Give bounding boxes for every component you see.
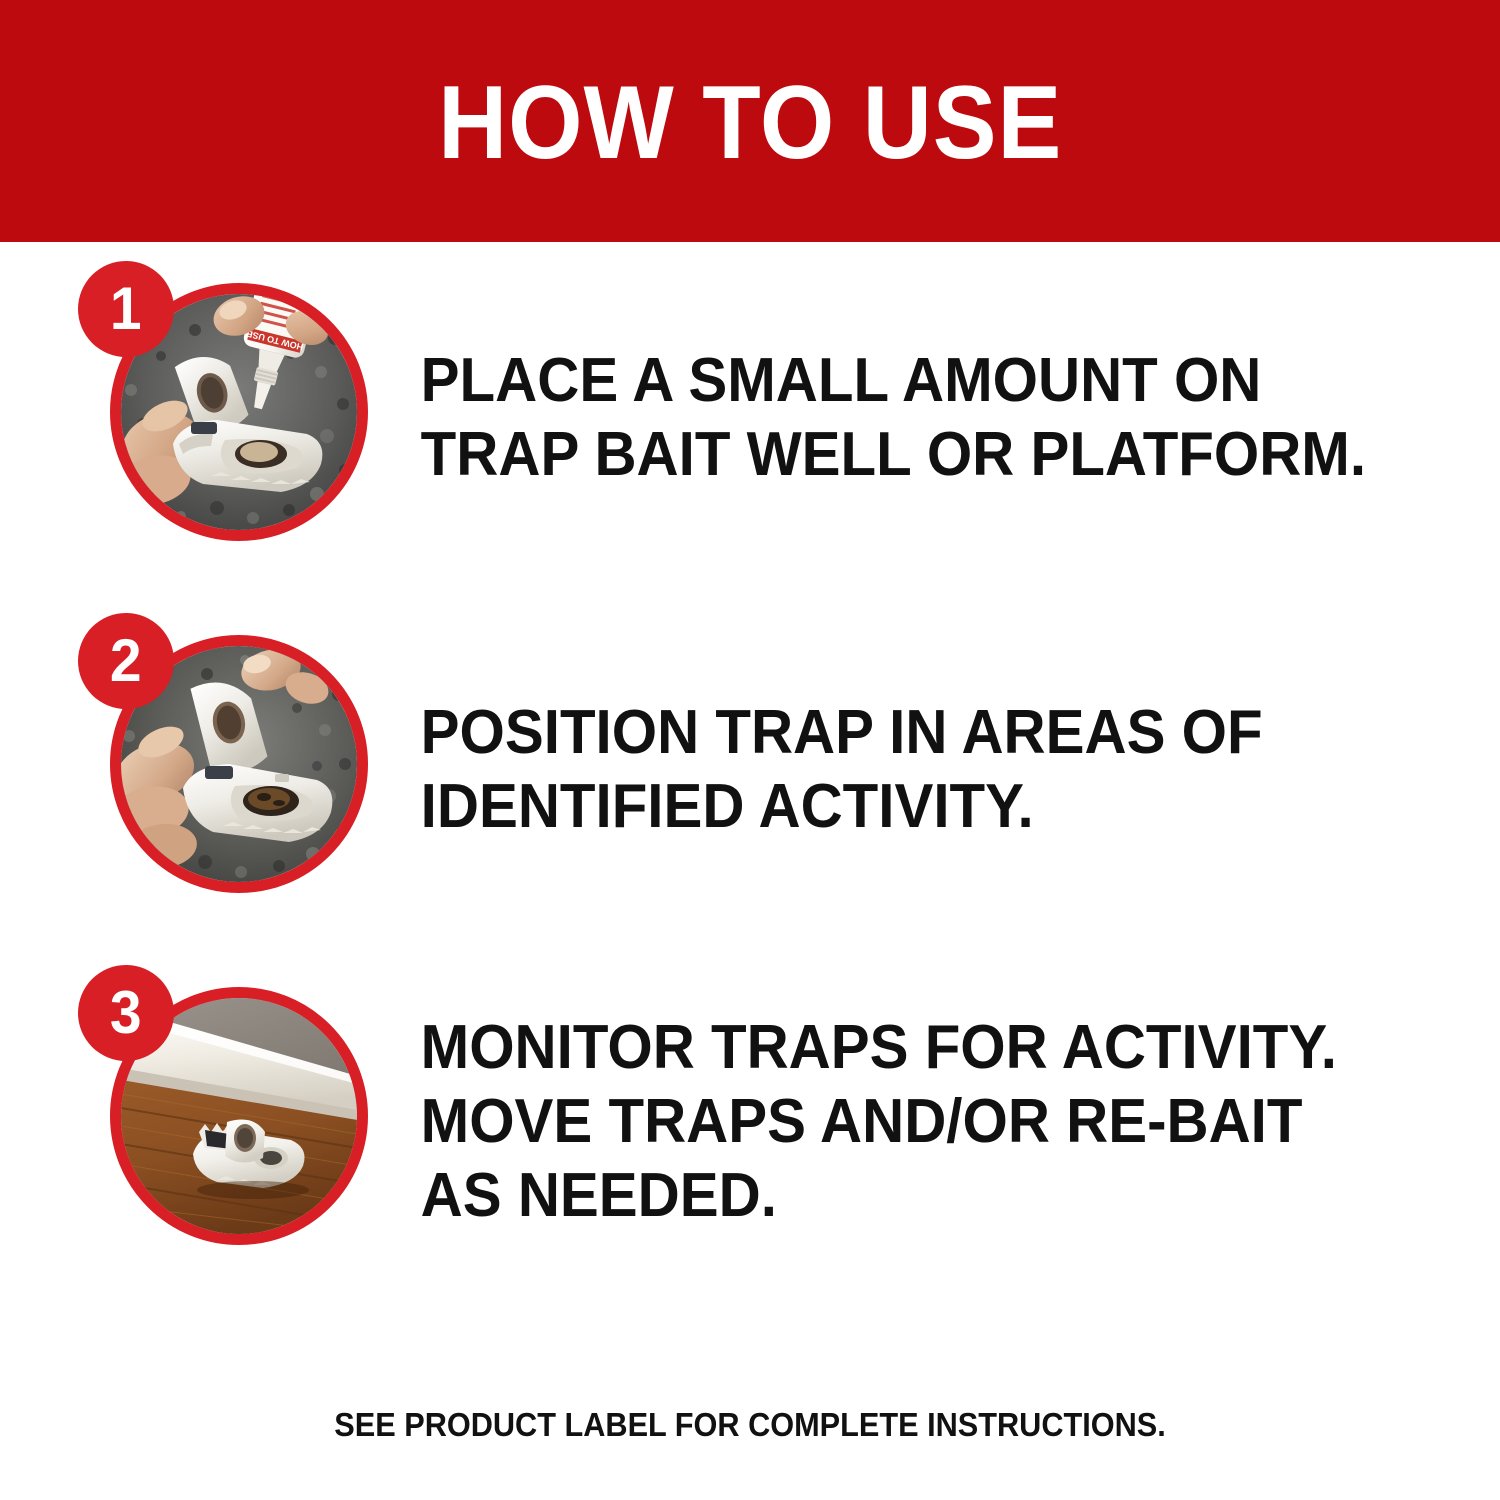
step-media-2: 2: [0, 595, 400, 945]
step-number: 1: [110, 279, 142, 339]
step-text-3: MONITOR TRAPS FOR ACTIVITY. MOVE TRAPS A…: [400, 1011, 1434, 1233]
step-text-1: PLACE A SMALL AMOUNT ON TRAP BAIT WELL O…: [400, 344, 1434, 492]
page-title: HOW TO USE: [438, 71, 1062, 175]
infographic-page: HOW TO USE: [0, 0, 1500, 1500]
step-text-2: POSITION TRAP IN AREAS OF IDENTIFIED ACT…: [400, 696, 1434, 844]
step-badge-1: 1: [78, 261, 174, 357]
footer: SEE PRODUCT LABEL FOR COMPLETE INSTRUCTI…: [0, 1405, 1500, 1445]
step-media-1: HOW TO USE: [0, 243, 400, 593]
step-media-3: 3: [0, 947, 400, 1297]
step-item: 3 MONITOR TRAPS FOR ACTIVITY. MOVE TRAPS…: [0, 946, 1500, 1298]
step-item: 2 POSITION TRAP IN AREAS OF IDENTIFIED A…: [0, 594, 1500, 946]
step-number: 3: [110, 983, 142, 1043]
step-item: HOW TO USE: [0, 242, 1500, 594]
step-number: 2: [110, 631, 142, 691]
steps-list: HOW TO USE: [0, 242, 1500, 1298]
step-badge-3: 3: [78, 965, 174, 1061]
header-band: HOW TO USE: [0, 0, 1500, 242]
footer-disclaimer: SEE PRODUCT LABEL FOR COMPLETE INSTRUCTI…: [334, 1405, 1166, 1445]
step-badge-2: 2: [78, 613, 174, 709]
